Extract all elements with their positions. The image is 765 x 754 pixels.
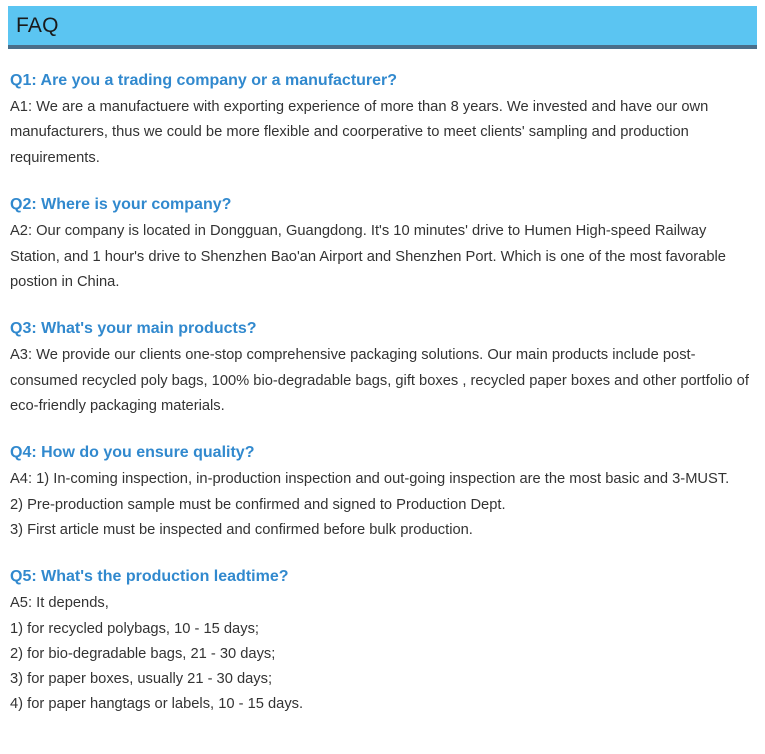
faq-page: FAQ Q1: Are you a trading company or a m…: [0, 6, 765, 754]
faq-answer-line: A4: 1) In-coming inspection, in-producti…: [10, 467, 750, 492]
faq-answer-line: 3) First article must be inspected and c…: [10, 518, 750, 543]
faq-question-5: Q5: What's the production leadtime?: [10, 565, 750, 588]
faq-answer-line: A2: Our company is located in Dongguan, …: [10, 219, 750, 295]
faq-answer-line: 1) for recycled polybags, 10 - 15 days;: [10, 617, 750, 642]
faq-answer-line: A5: It depends,: [10, 591, 750, 616]
faq-answer-1: A1: We are a manufactuere with exporting…: [10, 95, 750, 171]
faq-item-4: Q4: How do you ensure quality? A4: 1) In…: [10, 441, 750, 543]
faq-answer-3: A3: We provide our clients one-stop comp…: [10, 343, 750, 419]
faq-answer-2: A2: Our company is located in Dongguan, …: [10, 219, 750, 295]
faq-answer-line: A1: We are a manufactuere with exporting…: [10, 95, 750, 171]
faq-header-bar: FAQ: [8, 6, 757, 49]
faq-answer-line: 4) for paper hangtags or labels, 10 - 15…: [10, 692, 750, 717]
faq-answer-line: A3: We provide our clients one-stop comp…: [10, 343, 750, 419]
faq-answer-line: 2) for bio-degradable bags, 21 - 30 days…: [10, 642, 750, 667]
faq-content: Q1: Are you a trading company or a manuf…: [0, 69, 765, 718]
faq-answer-line: 2) Pre-production sample must be confirm…: [10, 493, 750, 518]
faq-item-2: Q2: Where is your company? A2: Our compa…: [10, 193, 750, 295]
faq-answer-line: 3) for paper boxes, usually 21 - 30 days…: [10, 667, 750, 692]
faq-question-2: Q2: Where is your company?: [10, 193, 750, 216]
faq-answer-5: A5: It depends, 1) for recycled polybags…: [10, 591, 750, 717]
faq-answer-4: A4: 1) In-coming inspection, in-producti…: [10, 467, 750, 543]
faq-item-3: Q3: What's your main products? A3: We pr…: [10, 317, 750, 419]
faq-question-3: Q3: What's your main products?: [10, 317, 750, 340]
faq-item-1: Q1: Are you a trading company or a manuf…: [10, 69, 750, 171]
faq-question-1: Q1: Are you a trading company or a manuf…: [10, 69, 750, 92]
faq-question-4: Q4: How do you ensure quality?: [10, 441, 750, 464]
page-title: FAQ: [8, 15, 59, 36]
faq-item-5: Q5: What's the production leadtime? A5: …: [10, 565, 750, 718]
